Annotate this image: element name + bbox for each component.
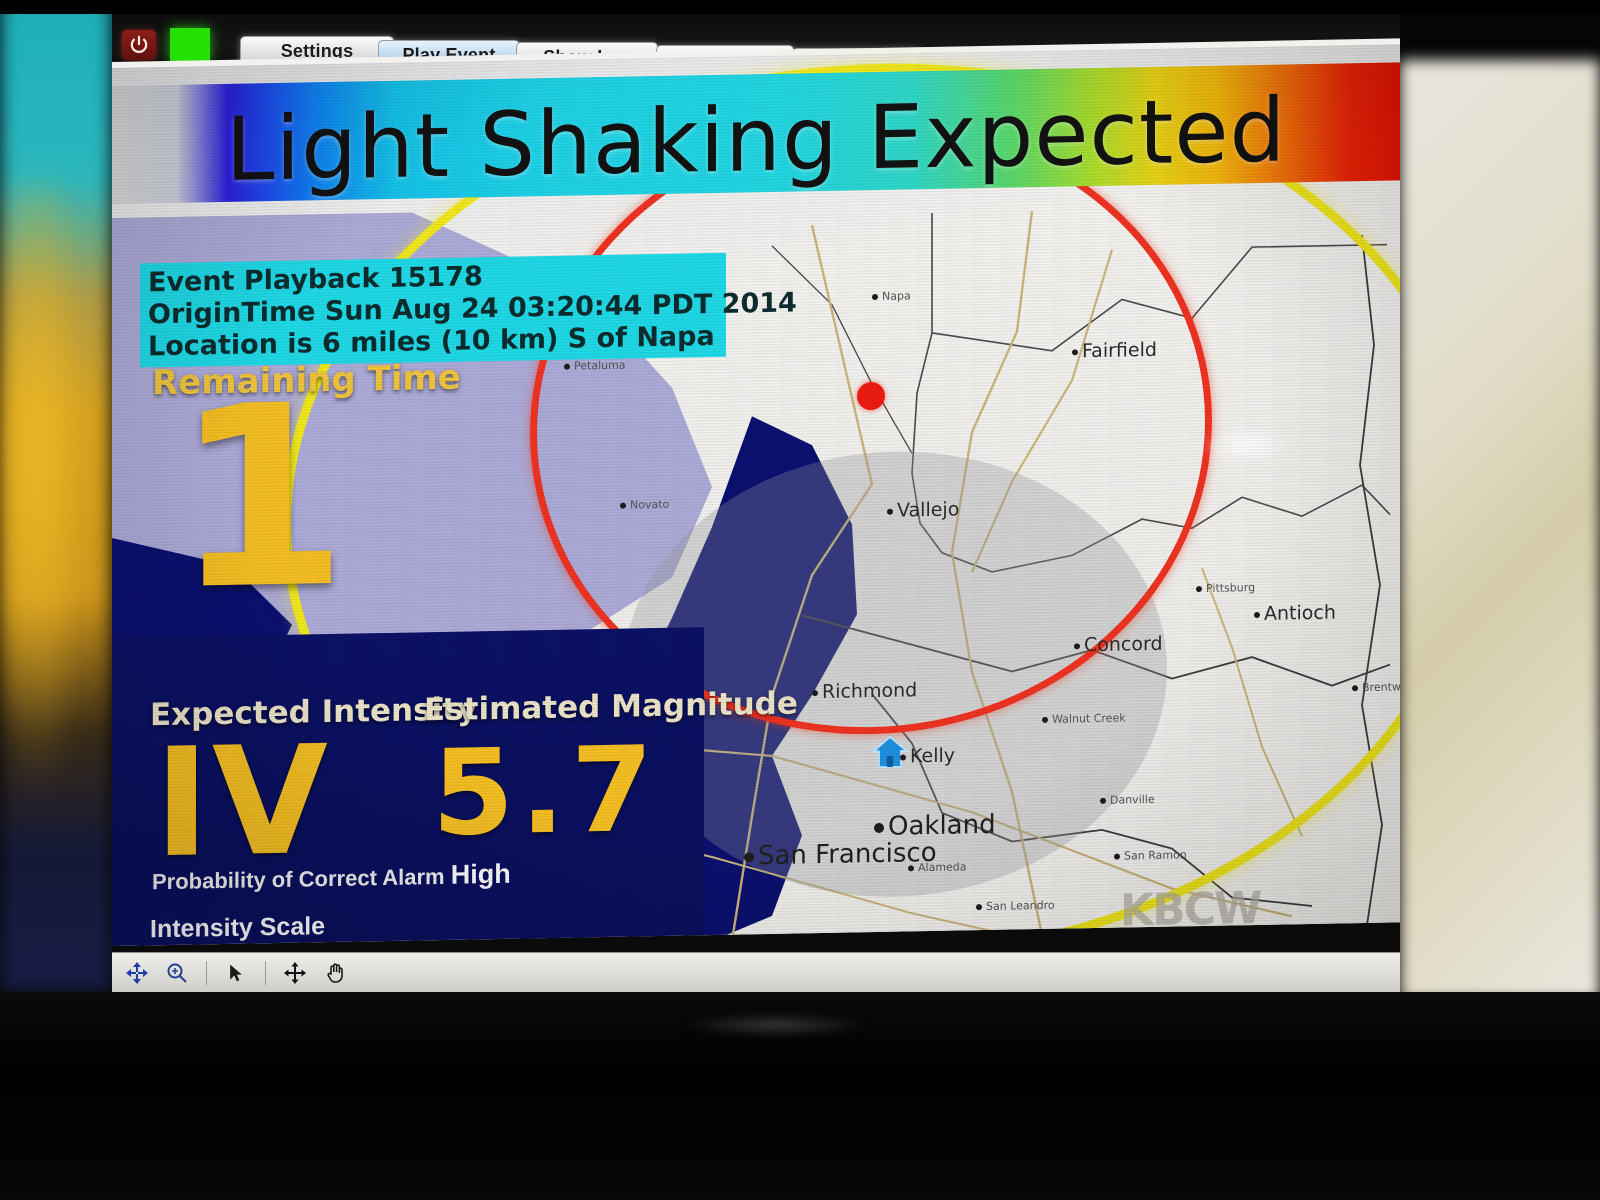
bezel-top: [0, 0, 1600, 14]
intensity-name-2: Light: [254, 943, 300, 946]
bottom-tool-strip: [112, 952, 1400, 992]
zoom-extent-icon[interactable]: [120, 958, 154, 988]
shakealert-application-window: Settings Play Event Show Log Disclaimer …: [112, 14, 1400, 992]
city-label-brentwood: Brentwood: [1352, 680, 1400, 694]
green-status-box: [170, 28, 210, 62]
magnifier-icon[interactable]: [160, 958, 194, 988]
city-label-pittsburg: Pittsburg: [1196, 581, 1255, 595]
city-label-novato: Novato: [620, 498, 669, 512]
remaining-time-value: 1: [174, 382, 348, 615]
photographed-screen: Settings Play Event Show Log Disclaimer …: [0, 0, 1600, 1200]
city-label-alameda: Alameda: [908, 860, 967, 874]
probability-label: Probability of Correct Alarm: [152, 864, 445, 894]
station-logo: KBCW: [1120, 883, 1260, 937]
city-label-san-leandro: San Leandro: [976, 899, 1055, 913]
estimated-magnitude-value: 5.7: [432, 720, 659, 862]
four-way-arrow-icon[interactable]: [278, 958, 312, 988]
power-icon[interactable]: [122, 30, 156, 60]
city-label-san-ramon: San Ramon: [1114, 848, 1187, 862]
city-label-castro-valley: Castro Valley: [1028, 934, 1110, 946]
city-label-concord: Concord: [1074, 633, 1163, 657]
intensity-name-8: Extreme: [639, 936, 703, 946]
intensity-name-7: Violent: [584, 937, 639, 946]
intensity-name-4: Strong: [373, 941, 425, 946]
station-subtitle: 44 CABLE 12: [1142, 931, 1253, 946]
hand-icon[interactable]: [318, 958, 352, 988]
city-label-antioch: Antioch: [1254, 602, 1336, 626]
screen-glare: [1202, 424, 1292, 466]
out-of-focus-left-glow: [0, 180, 92, 800]
city-label-walnut-creek: Walnut Creek: [1042, 711, 1126, 726]
preliminary-notice-text: Earthquake data may be preliminary and s…: [834, 930, 1400, 946]
tool-divider-2: [265, 961, 266, 985]
city-label-kelly: Kelly: [900, 745, 955, 768]
probability-value: High: [451, 859, 511, 890]
intensity-name-6: Severe: [514, 938, 584, 946]
intensity-name-0: Not felt: [149, 945, 208, 946]
arrow-cursor-icon[interactable]: [219, 958, 253, 988]
alert-banner: Light Shaking Expected: [112, 62, 1400, 204]
city-label-danville: Danville: [1100, 793, 1155, 807]
intensity-name-1: Weak: [207, 944, 254, 946]
city-label-richmond: Richmond: [812, 679, 917, 703]
tool-divider: [206, 961, 207, 985]
city-label-fairfield: Fairfield: [1072, 339, 1157, 363]
intensity-name-3: Moderate: [300, 942, 373, 946]
event-info-block: Event Playback 15178 OriginTime Sun Aug …: [140, 253, 726, 367]
out-of-focus-right-surround: [1400, 60, 1600, 1000]
intensity-name-5: Very strong: [426, 939, 514, 946]
probability-of-correct-alarm: Probability of Correct Alarm High: [152, 859, 511, 897]
city-label-vallejo: Vallejo: [887, 498, 959, 521]
map-stage[interactable]: NapaFairfieldPetalumaNovatoVallejoPittsb…: [112, 38, 1400, 946]
city-label-napa: Napa: [872, 289, 911, 303]
intensity-scale-title: Intensity Scale: [150, 912, 325, 944]
preliminary-notice: Earthquake data may be preliminary and s…: [772, 930, 1400, 946]
bezel-brand-glow: [680, 1014, 870, 1036]
city-label-petaluma: Petaluma: [564, 359, 626, 373]
